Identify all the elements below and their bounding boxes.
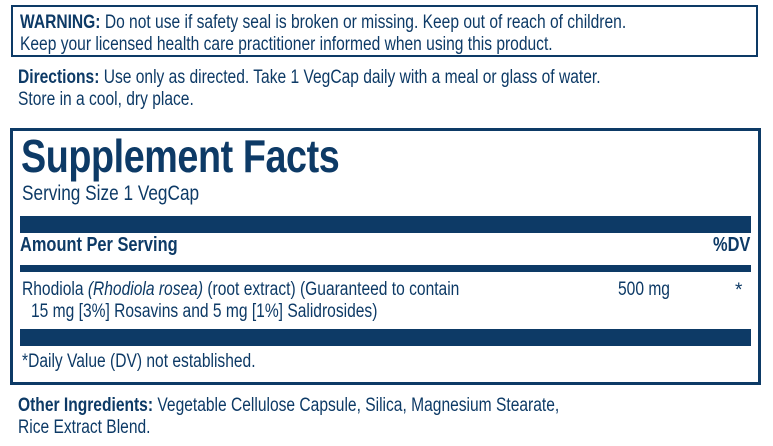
serving-size: Serving Size 1 VegCap (22, 183, 238, 204)
supplement-facts-panel: Supplement Facts Serving Size 1 VegCap A… (10, 128, 761, 385)
directions-text-2: Store in a cool, dry place. (18, 90, 194, 109)
warning-label: WARNING: (20, 12, 100, 33)
warning-line-1: WARNING: Do not use if safety seal is br… (20, 13, 759, 32)
directions-line-2: Store in a cool, dry place. (18, 90, 232, 109)
footer-rule-thick (20, 329, 751, 346)
warning-text-1: Do not use if safety seal is broken or m… (100, 12, 626, 33)
header-rule-thin (20, 265, 751, 272)
amount-per-serving-header: Amount Per Serving (20, 235, 212, 255)
serving-size-text: Serving Size 1 VegCap (22, 183, 199, 204)
ingredient-amount: 500 mg (618, 279, 681, 301)
other-ingredients-label: Other Ingredients: (18, 395, 153, 416)
supplement-facts-title: Supplement Facts (21, 133, 409, 179)
other-ingredients-text-1: Vegetable Cellulose Capsule, Silica, Mag… (153, 395, 559, 416)
ingredient-name-part1: Rhodiola (22, 279, 88, 300)
ingredient-name-part2: (root extract) (Guaranteed to contain (203, 279, 459, 300)
other-ingredients-text-2: Rice Extract Blend. (18, 418, 150, 437)
ingredient-name-line2: 15 mg [3%] Rosavins and 5 mg [1%] Salidr… (31, 301, 377, 323)
directions-label: Directions: (18, 67, 99, 88)
table-row: Rhodiola (Rhodiola rosea) (root extract)… (22, 279, 757, 325)
ingredient-daily-value-text: * (735, 280, 742, 301)
other-ingredients-line-2: Rice Extract Blend. (18, 418, 180, 437)
percent-dv-text: %DV (713, 235, 750, 255)
warning-text-2: Keep your licensed health care practitio… (20, 35, 553, 54)
ingredient-name: Rhodiola (Rhodiola rosea) (root extract)… (22, 279, 622, 323)
daily-value-footnote-text: *Daily Value (DV) not established. (22, 352, 256, 371)
warning-line-2: Keep your licensed health care practitio… (20, 35, 670, 54)
directions-text-1: Use only as directed. Take 1 VegCap dail… (99, 67, 600, 88)
ingredient-amount-text: 500 mg (618, 279, 670, 301)
other-ingredients-line-1: Other Ingredients: Vegetable Cellulose C… (18, 396, 678, 415)
supplement-facts-title-text: Supplement Facts (21, 133, 339, 179)
amount-per-serving-text: Amount Per Serving (20, 235, 178, 255)
warning-box: WARNING: Do not use if safety seal is br… (11, 5, 758, 57)
ingredient-daily-value: * (735, 280, 742, 302)
percent-dv-header: %DV (713, 235, 759, 255)
column-header-row: Amount Per Serving %DV (20, 235, 759, 261)
daily-value-footnote: *Daily Value (DV) not established. (22, 352, 307, 371)
directions-line-1: Directions: Use only as directed. Take 1… (18, 68, 728, 87)
header-rule-thick-top (20, 216, 751, 233)
ingredient-latin-name: (Rhodiola rosea) (88, 279, 203, 300)
